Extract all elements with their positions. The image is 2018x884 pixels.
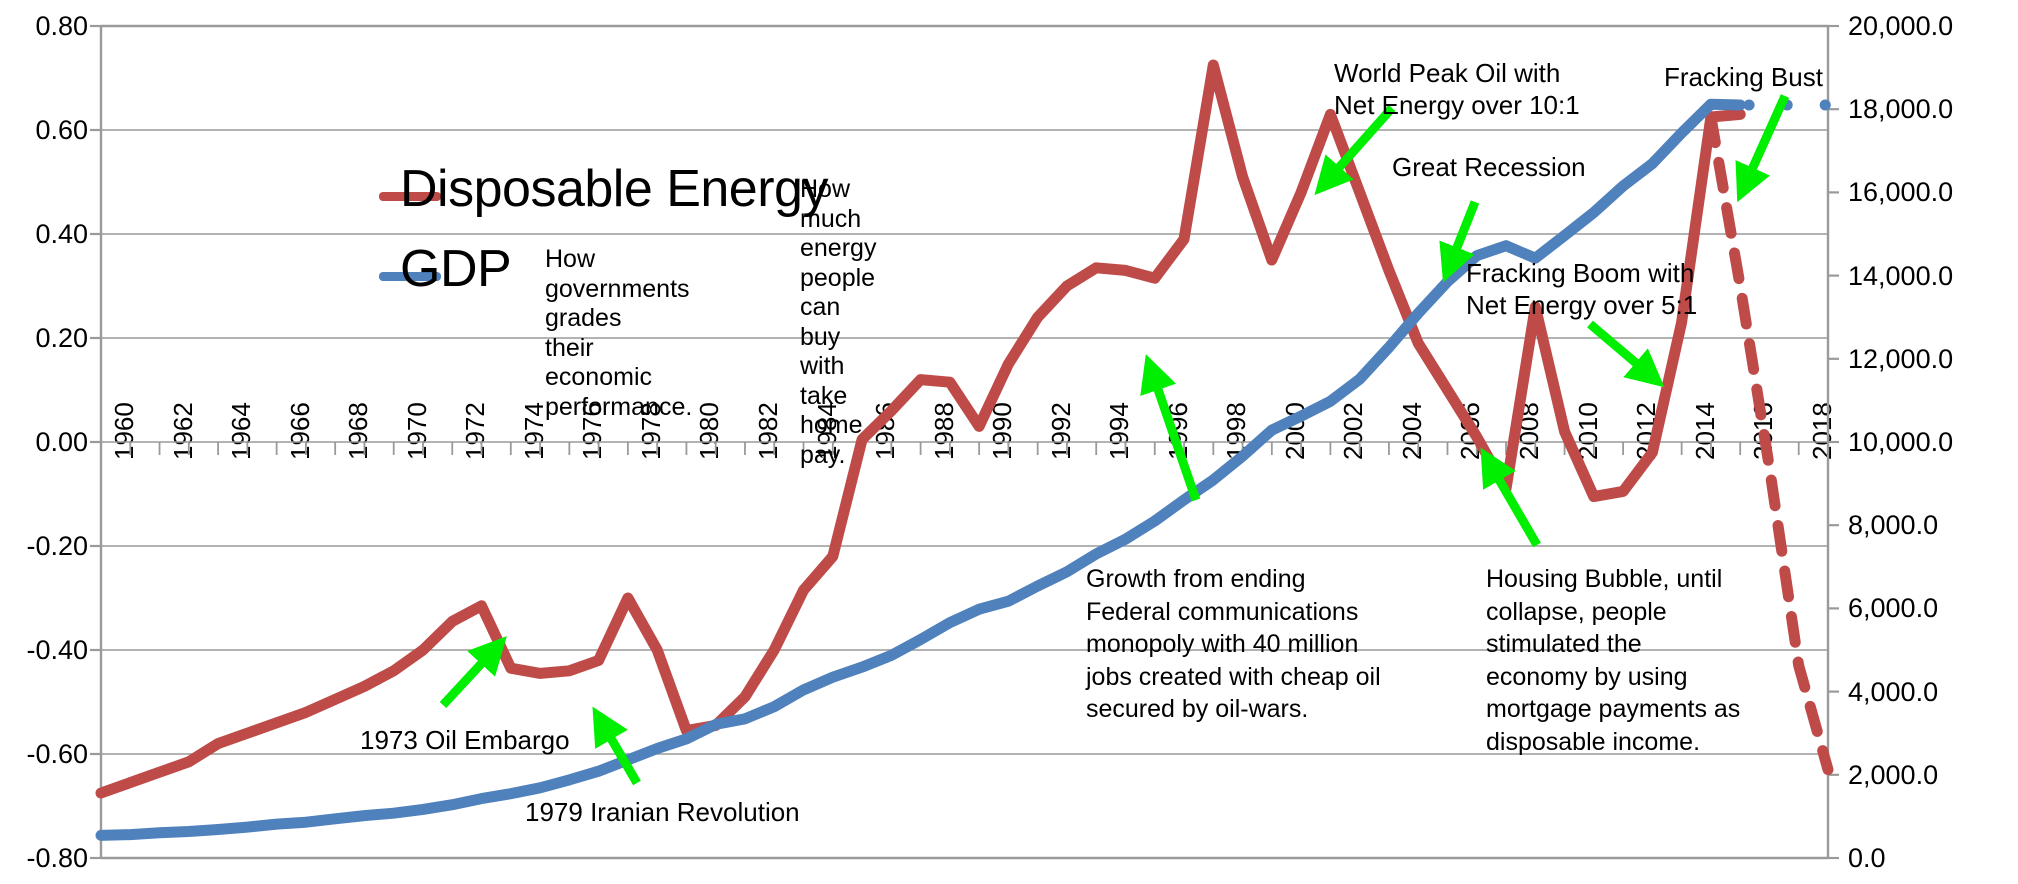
legend-label-gdp: GDP	[400, 243, 511, 295]
annotation-1979-iranian-revolution: 1979 Iranian Revolution	[525, 797, 800, 829]
annotation-growth-monopoly: Growth from ending Federal communication…	[1086, 563, 1381, 726]
legend-note-disposable-energy: How much energy people can buy with take…	[800, 175, 876, 470]
chart-root: 0.800.600.400.200.00-0.20-0.40-0.60-0.80…	[0, 0, 2018, 884]
arrow-growth-monopoly	[1152, 372, 1196, 500]
annotation-housing-bubble: Housing Bubble, until collapse, people s…	[1486, 563, 1740, 758]
arrow-fracking-boom	[1590, 324, 1650, 375]
arrow-1973-oil-embargo	[443, 650, 494, 705]
legend-note-gdp: How governments grades their economic pe…	[545, 245, 692, 422]
annotation-1973-oil-embargo: 1973 Oil Embargo	[360, 725, 570, 757]
annotation-world-peak-oil: World Peak Oil with Net Energy over 10:1	[1334, 58, 1580, 121]
annotation-fracking-boom: Fracking Boom with Net Energy over 5:1	[1466, 258, 1697, 321]
legend-label-disposable-energy: Disposable Energy	[400, 163, 828, 215]
annotation-fracking-bust: Fracking Bust	[1664, 62, 1823, 94]
annotation-great-recession: Great Recession	[1392, 152, 1586, 184]
